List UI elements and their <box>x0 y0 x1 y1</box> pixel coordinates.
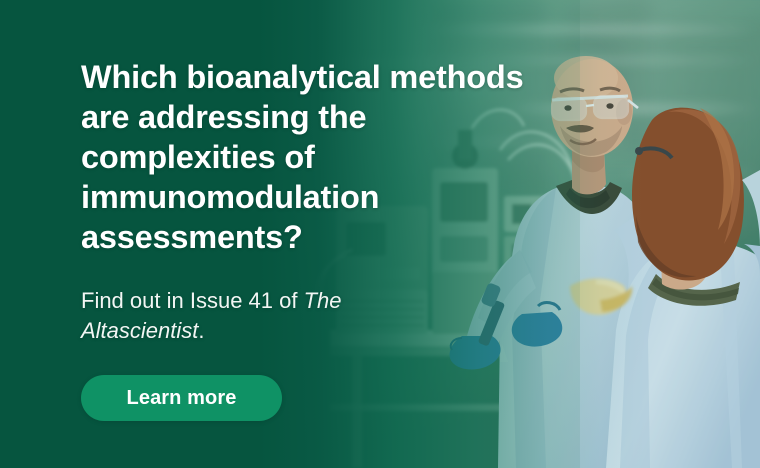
subcopy-prefix: Find out in Issue 41 of <box>81 288 304 313</box>
subcopy: Find out in Issue 41 of The Altascientis… <box>81 286 411 346</box>
headline: Which bioanalytical methods are addressi… <box>81 57 551 257</box>
banner-content: Which bioanalytical methods are addressi… <box>81 0 641 468</box>
subcopy-suffix: . <box>198 318 204 343</box>
learn-more-button[interactable]: Learn more <box>81 375 282 421</box>
promotional-banner: Which bioanalytical methods are addressi… <box>0 0 760 468</box>
